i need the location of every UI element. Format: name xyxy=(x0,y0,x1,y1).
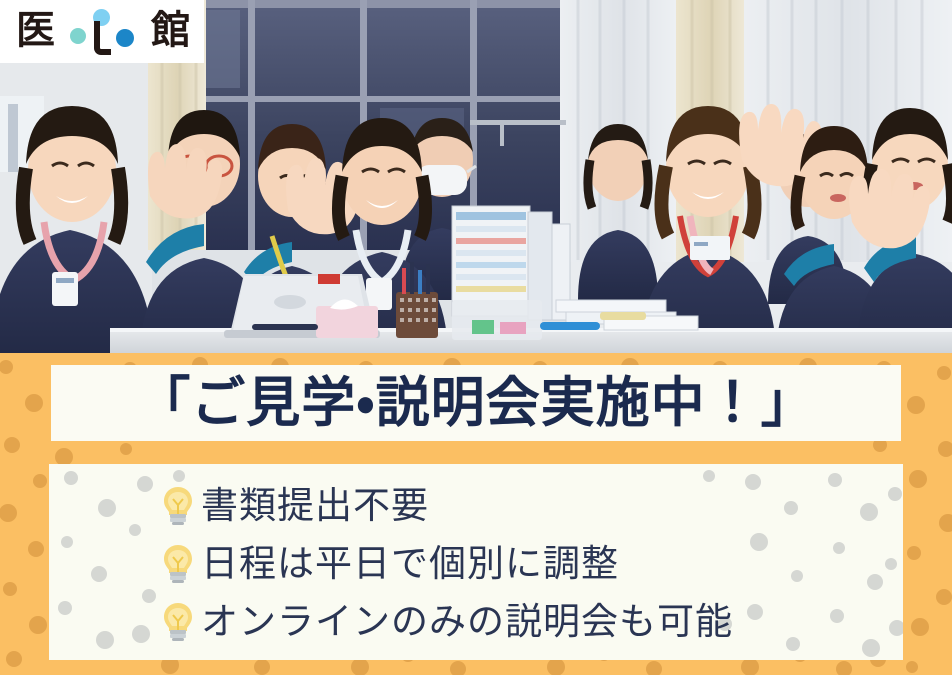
logo-kanji-left: 医 xyxy=(16,11,55,50)
list-item: オンラインのみの説明会も可能 xyxy=(49,592,903,650)
light-bulb-icon xyxy=(161,543,195,583)
logo-kanji-right: 館 xyxy=(151,11,190,50)
storage-tray xyxy=(452,300,542,340)
kokoro-stroke-icon xyxy=(94,21,111,55)
logo-mark-kokoro xyxy=(66,9,138,55)
light-bulb-icon xyxy=(161,485,195,525)
benefit-text: オンラインのみの説明会も可能 xyxy=(201,603,733,640)
benefit-text: 日程は平日で個別に調整 xyxy=(201,545,619,582)
benefits-list: 書類提出不要 日程は平日で個別に調整 xyxy=(49,464,903,650)
headline-banner: 「ご見学・説明会実施中！」 xyxy=(51,365,901,441)
blue-dot-icon xyxy=(116,29,134,47)
list-item: 日程は平日で個別に調整 xyxy=(49,534,903,592)
benefits-panel: 書類提出不要 日程は平日で個別に調整 xyxy=(49,464,903,660)
list-item: 書類提出不要 xyxy=(49,476,903,534)
page-title: 「ご見学・説明会実施中！」 xyxy=(136,376,815,430)
light-bulb-icon xyxy=(161,601,195,641)
benefit-text: 書類提出不要 xyxy=(201,487,429,524)
company-logo: 医 館 xyxy=(0,0,204,63)
teal-dot-icon xyxy=(70,28,86,44)
recruitment-poster: 医 館 xyxy=(0,0,952,675)
